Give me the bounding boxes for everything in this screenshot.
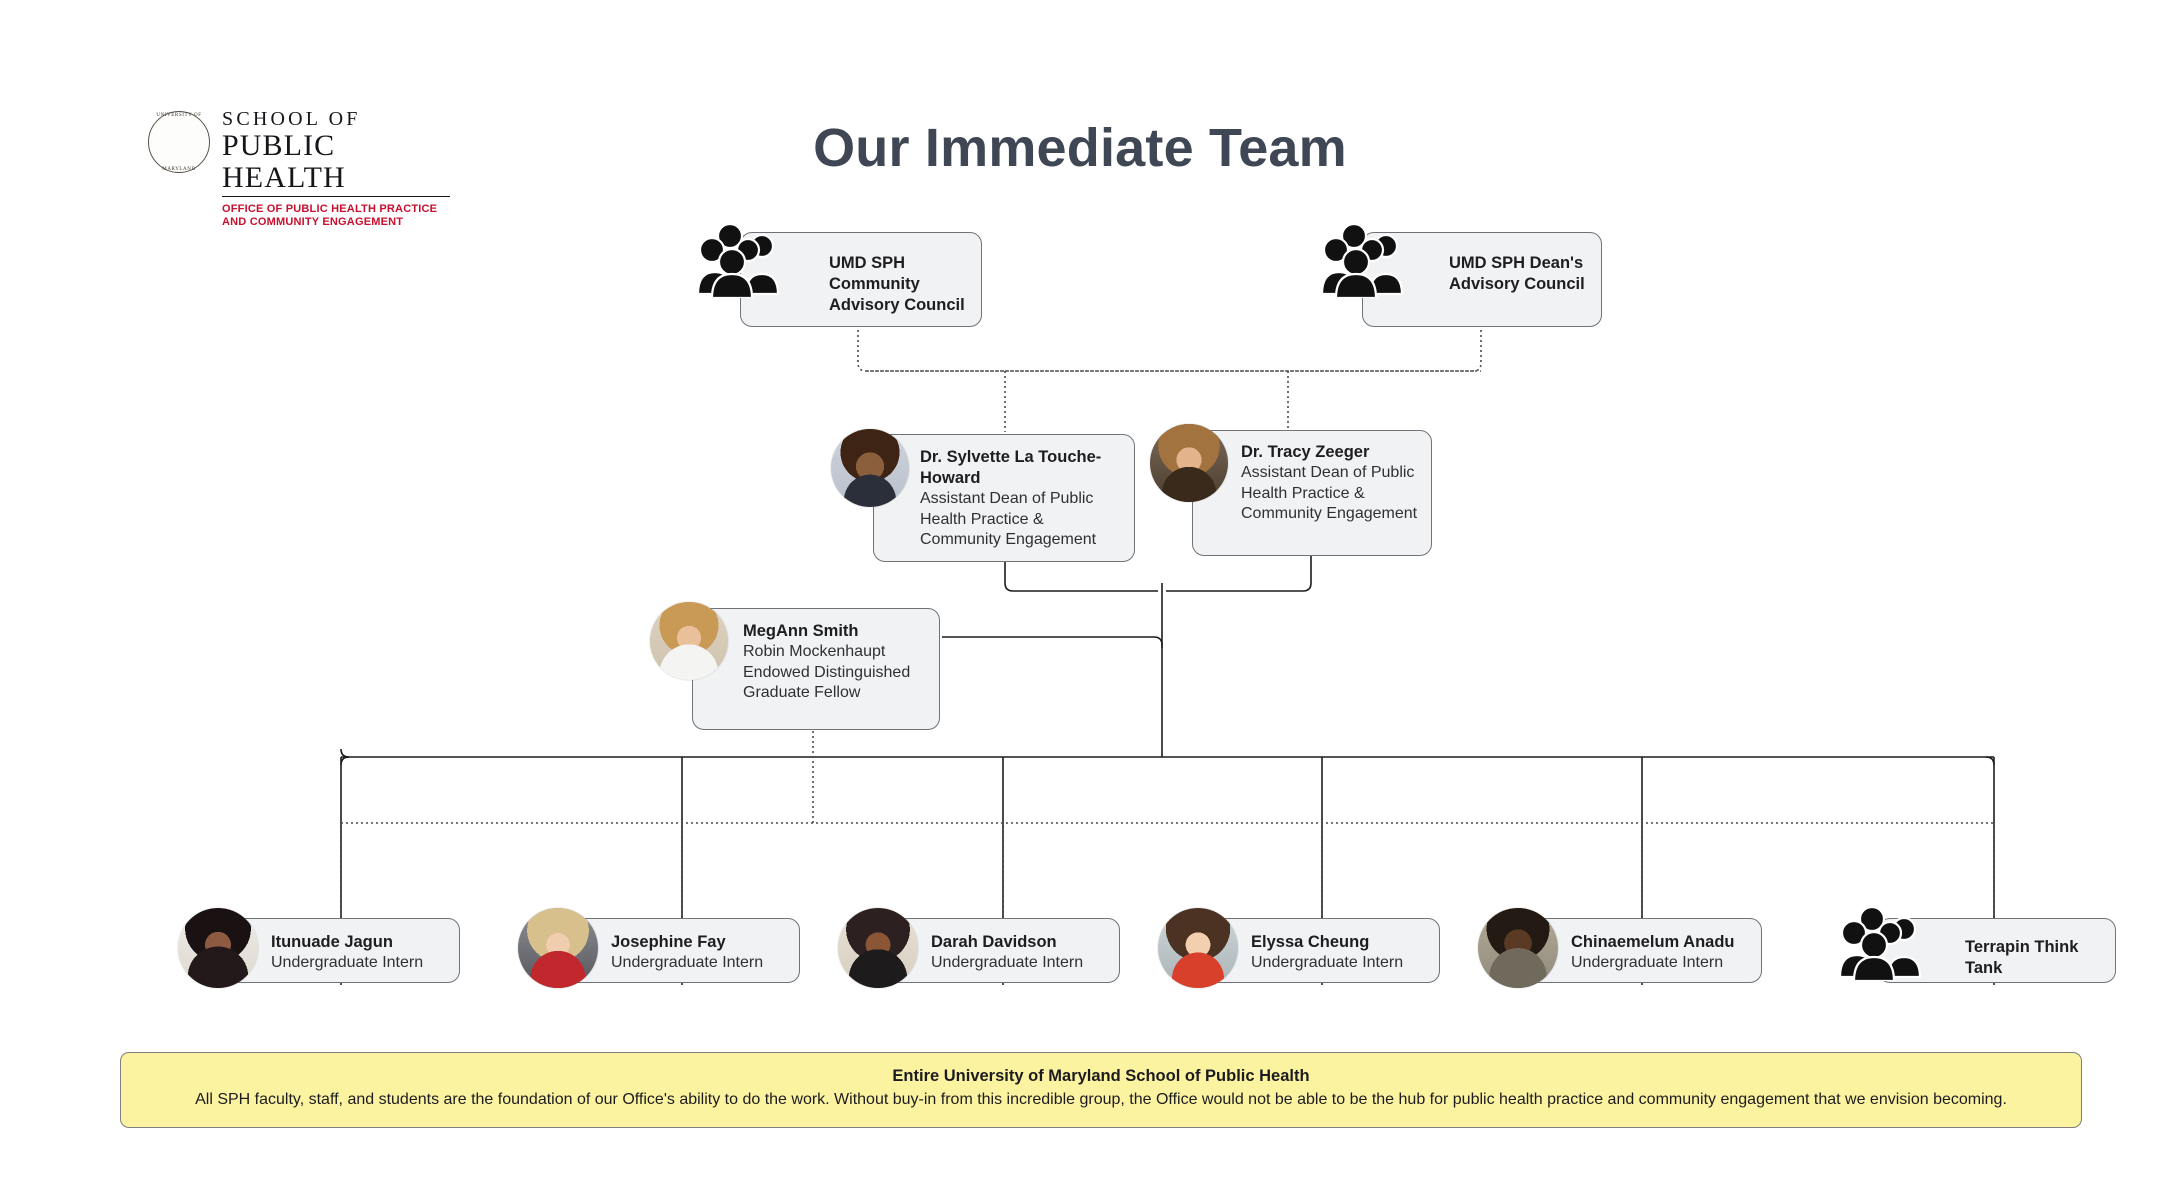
node-role: Undergraduate Intern (1571, 953, 1735, 973)
node-title: UMD SPH Community Advisory Council (829, 253, 969, 316)
avatar (1150, 424, 1228, 502)
node-title: UMD SPH Dean's Advisory Council (1449, 253, 1589, 295)
avatar (178, 908, 258, 988)
node-title: Itunuade Jagun (271, 932, 423, 953)
node-title: Terrapin Think Tank (1965, 937, 2103, 979)
group-people-icon (1838, 905, 1934, 981)
node-megann-smith[interactable]: MegAnn Smith Robin Mockenhaupt Endowed D… (692, 608, 940, 730)
node-title: Dr. Sylvette La Touche-Howard (920, 447, 1122, 489)
avatar (518, 908, 598, 988)
footer-title: Entire University of Maryland School of … (143, 1067, 2059, 1086)
group-people-icon (1320, 222, 1416, 298)
avatar (838, 908, 918, 988)
node-role: Undergraduate Intern (271, 953, 423, 973)
node-role: Undergraduate Intern (611, 953, 763, 973)
node-title: Darah Davidson (931, 932, 1083, 953)
avatar (1478, 908, 1558, 988)
node-tracy-zeeger[interactable]: Dr. Tracy Zeeger Assistant Dean of Publi… (1192, 430, 1432, 556)
node-title: MegAnn Smith (743, 621, 927, 642)
node-title: Dr. Tracy Zeeger (1241, 442, 1419, 463)
node-chinaemelum-anadu[interactable]: Chinaemelum Anadu Undergraduate Intern (1522, 918, 1762, 983)
footer-body: All SPH faculty, staff, and students are… (143, 1089, 2059, 1111)
node-sylvette-la-touche-howard[interactable]: Dr. Sylvette La Touche-Howard Assistant … (873, 434, 1135, 562)
node-role: Undergraduate Intern (931, 953, 1083, 973)
avatar (1158, 908, 1238, 988)
page-title: Our Immediate Team (0, 117, 2160, 179)
node-role: Assistant Dean of Public Health Practice… (920, 489, 1122, 550)
logo-office-subtitle: OFFICE OF PUBLIC HEALTH PRACTICE AND COM… (222, 203, 452, 229)
node-role: Robin Mockenhaupt Endowed Distinguished … (743, 642, 927, 703)
footer-banner: Entire University of Maryland School of … (120, 1052, 2082, 1128)
node-role: Assistant Dean of Public Health Practice… (1241, 463, 1419, 524)
group-people-icon (696, 222, 792, 298)
avatar (831, 429, 909, 507)
node-title: Josephine Fay (611, 932, 763, 953)
avatar (650, 602, 728, 680)
node-title: Chinaemelum Anadu (1571, 932, 1735, 953)
node-title: Elyssa Cheung (1251, 932, 1403, 953)
node-role: Undergraduate Intern (1251, 953, 1403, 973)
